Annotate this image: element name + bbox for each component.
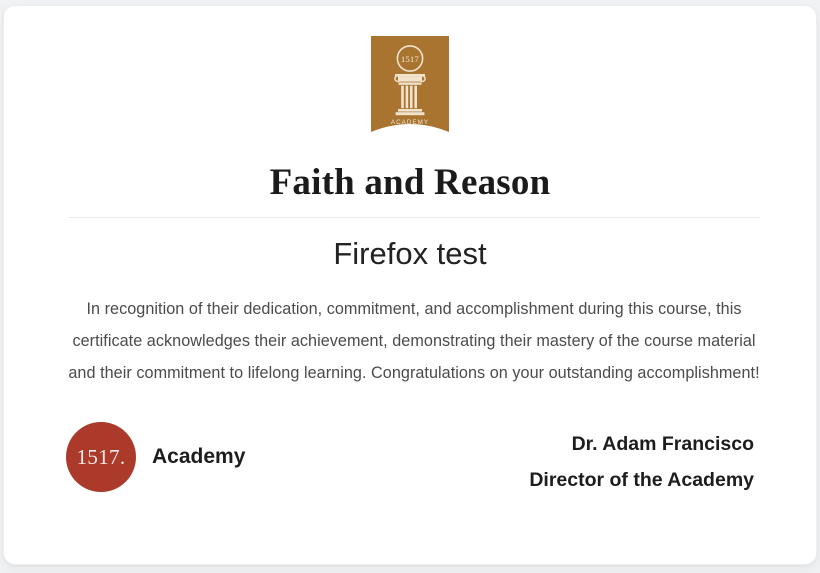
academy-seal-icon: 1517. — [66, 422, 136, 492]
svg-text:1517: 1517 — [401, 55, 419, 64]
organization-name: Academy — [152, 444, 245, 470]
signer-title: Director of the Academy — [529, 462, 754, 498]
signature-block: Dr. Adam Francisco Director of the Acade… — [529, 420, 754, 498]
seal-year-label: 1517. — [77, 447, 126, 468]
signer-name: Dr. Adam Francisco — [529, 426, 754, 462]
recipient-name: Firefox test — [4, 234, 816, 274]
certificate-content: 1517 ACADEMY — [4, 6, 816, 564]
svg-text:ACADEMY: ACADEMY — [391, 119, 429, 126]
certificate-card: 1517 ACADEMY — [3, 5, 817, 565]
seal-group: 1517. Academy — [66, 422, 245, 492]
certificate-footer: 1517. Academy Dr. Adam Francisco Directo… — [66, 420, 754, 510]
course-title: Faith and Reason — [4, 161, 816, 205]
title-divider — [68, 217, 760, 218]
certificate-body-text: In recognition of their dedication, comm… — [66, 293, 762, 389]
academy-banner-logo: 1517 ACADEMY — [371, 36, 449, 132]
academy-logo-icon: 1517 ACADEMY — [371, 36, 449, 132]
logo-container: 1517 ACADEMY — [4, 36, 816, 132]
